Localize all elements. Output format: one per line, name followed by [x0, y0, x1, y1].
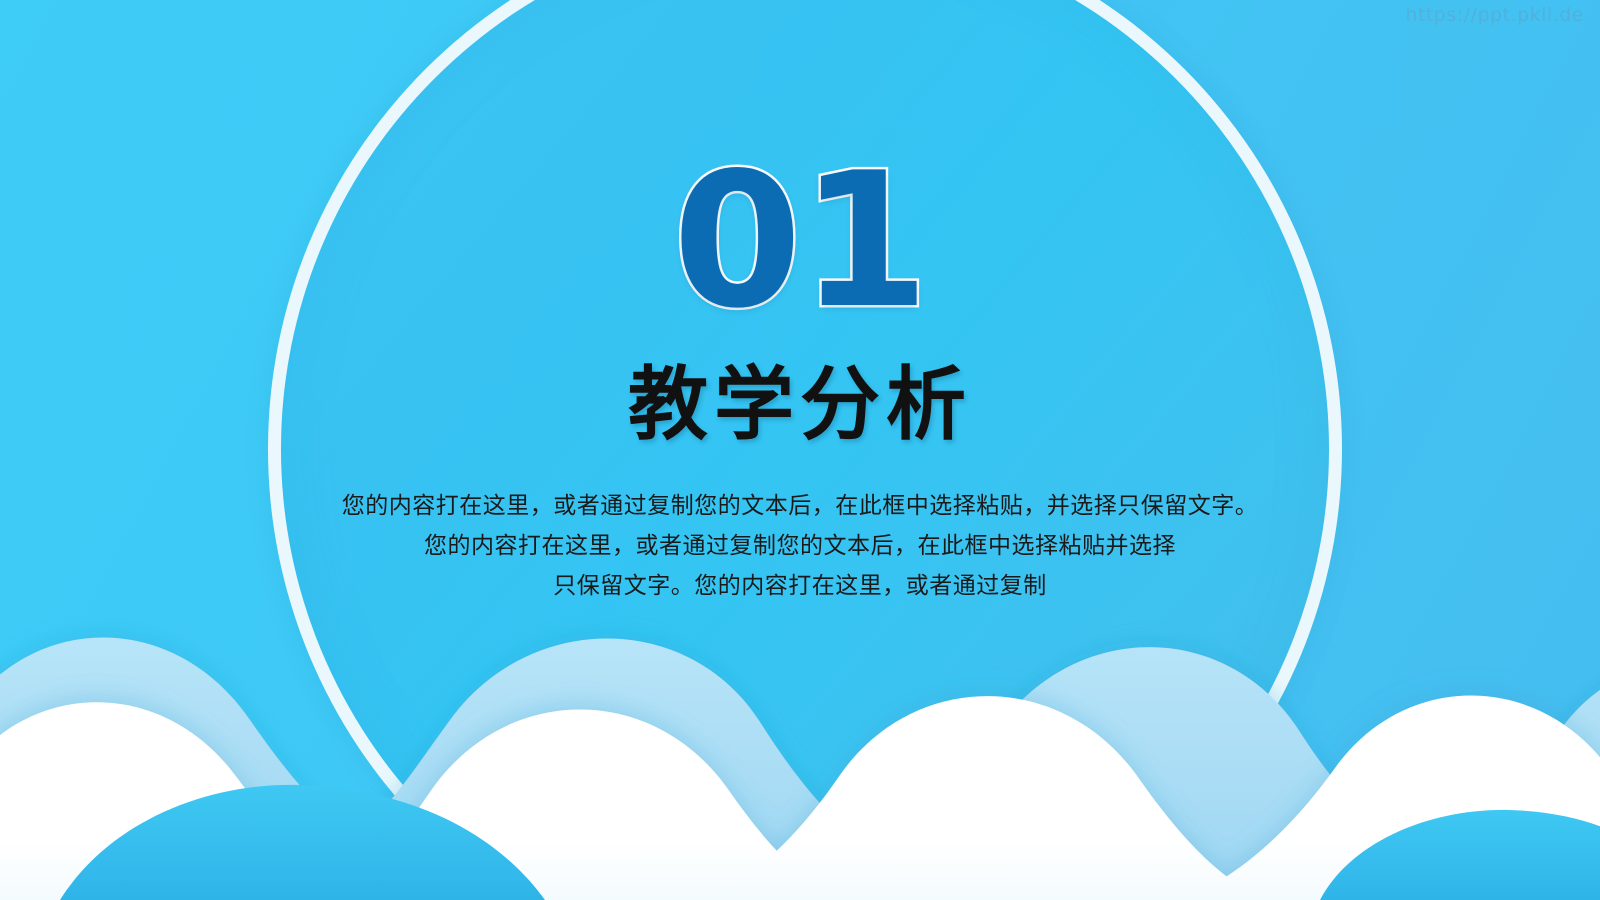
body-paragraph: 您的内容打在这里，或者通过复制您的文本后，在此框中选择粘贴，并选择只保留文字。 …	[0, 486, 1600, 606]
body-line: 您的内容打在这里，或者通过复制您的文本后，在此框中选择粘贴并选择	[0, 526, 1600, 566]
slide-root: https://ppt.pkll.de 01 教学分析 您的内容打在这里，或者通…	[0, 0, 1600, 900]
section-number: 01	[0, 148, 1600, 334]
watermark-url: https://ppt.pkll.de	[1405, 4, 1584, 26]
body-line: 您的内容打在这里，或者通过复制您的文本后，在此框中选择粘贴，并选择只保留文字。	[0, 486, 1600, 526]
page-title: 教学分析	[0, 363, 1600, 447]
body-line: 只保留文字。您的内容打在这里，或者通过复制	[0, 566, 1600, 606]
